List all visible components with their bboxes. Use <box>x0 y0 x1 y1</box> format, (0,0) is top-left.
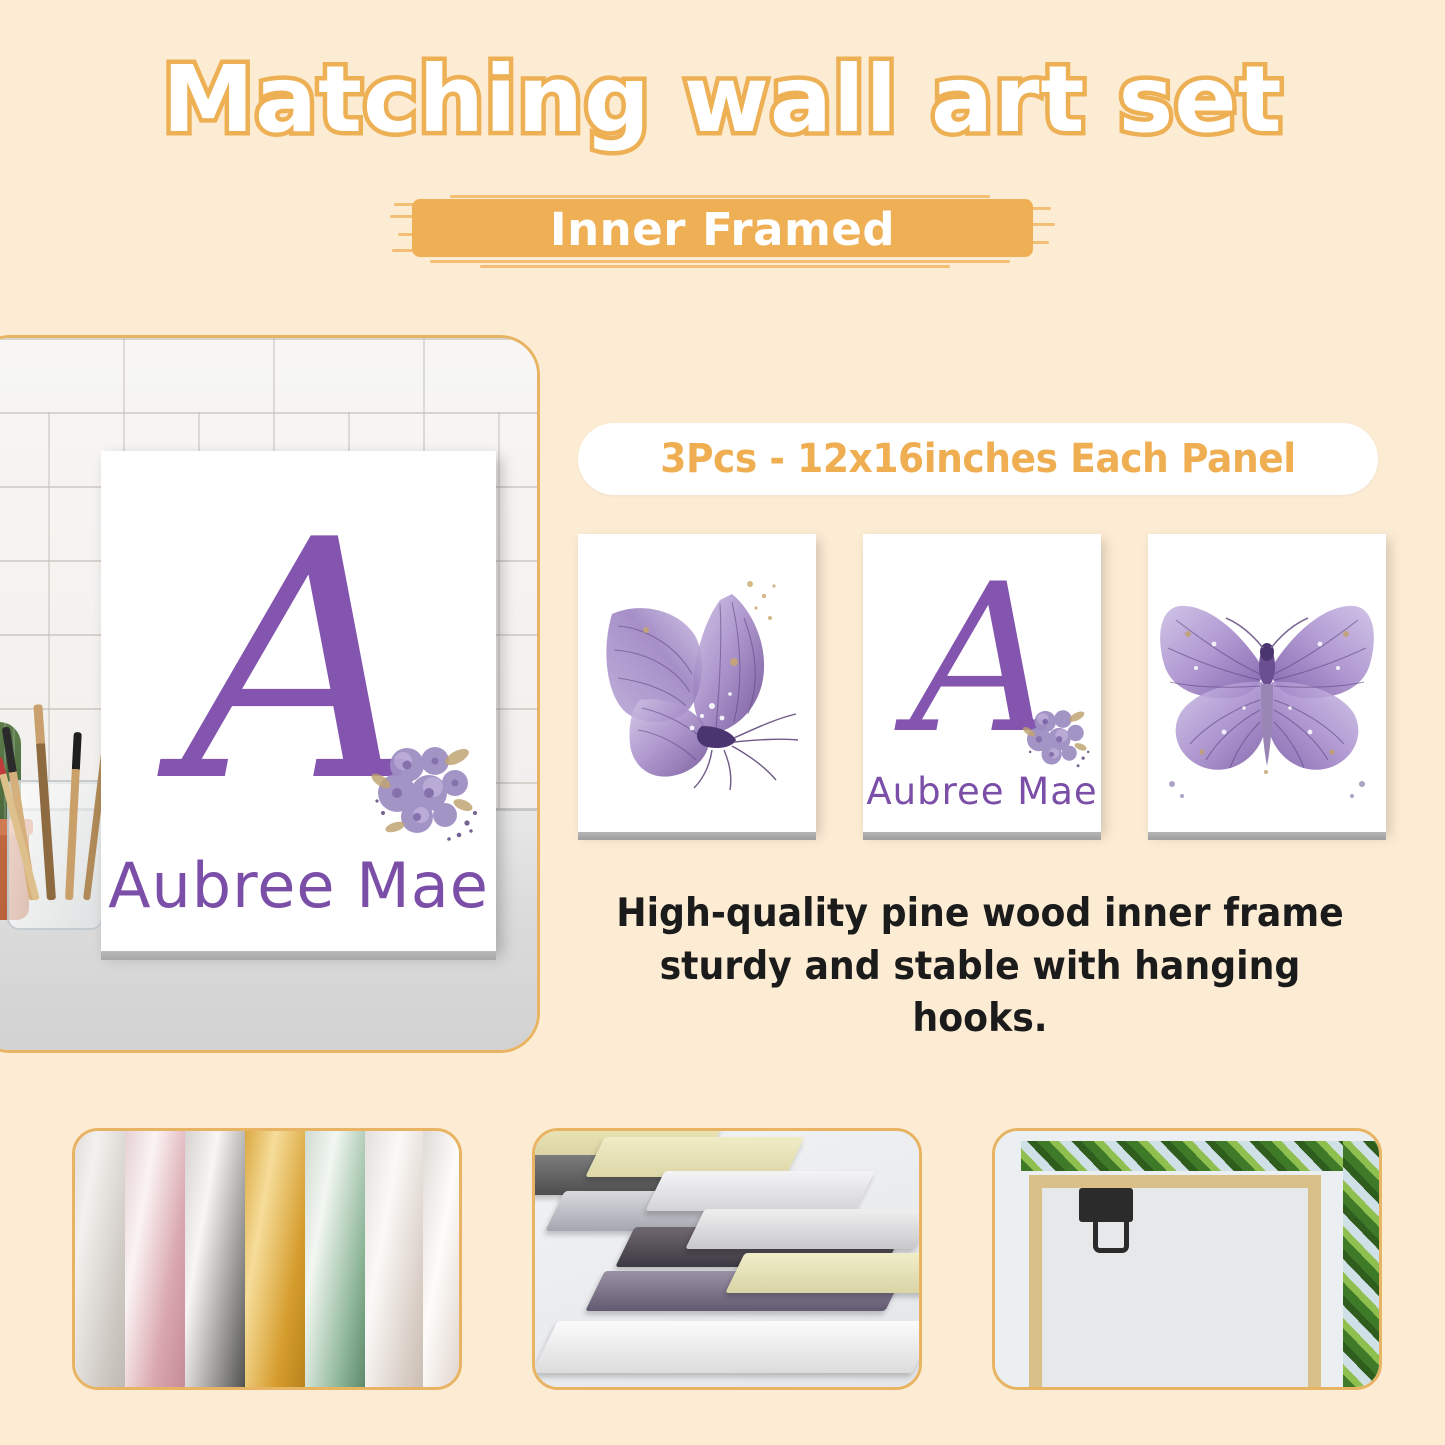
product-panel: A <box>863 534 1101 832</box>
butterfly-side-icon <box>578 534 816 832</box>
watercolor-flowers-icon <box>1015 700 1097 776</box>
product-panel <box>1148 534 1386 832</box>
hanging-hook-icon <box>1079 1188 1133 1222</box>
feature-description: High-quality pine wood inner frame sturd… <box>603 888 1356 1046</box>
printed-canvas-edge <box>1343 1141 1379 1387</box>
foam-slab <box>645 1171 875 1211</box>
frame-back-photo <box>992 1128 1382 1390</box>
product-panel <box>578 534 816 832</box>
feature-line-2: sturdy and stable with hanging hooks. <box>603 941 1356 1046</box>
pine-wood-inner-frame <box>1029 1175 1321 1390</box>
packaging-foam-photo <box>532 1128 922 1390</box>
monogram-artwork: A <box>863 534 1101 832</box>
foam-slab <box>532 1321 922 1373</box>
butterfly-open-icon <box>1148 534 1386 832</box>
printed-canvas-edge <box>1021 1141 1361 1171</box>
foam-slab <box>725 1253 922 1293</box>
foam-slab <box>685 1209 922 1249</box>
canvas-name-text: Aubree Mae <box>863 770 1101 813</box>
material-rolls-photo <box>72 1128 462 1390</box>
feature-line-1: High-quality pine wood inner frame <box>603 888 1356 941</box>
